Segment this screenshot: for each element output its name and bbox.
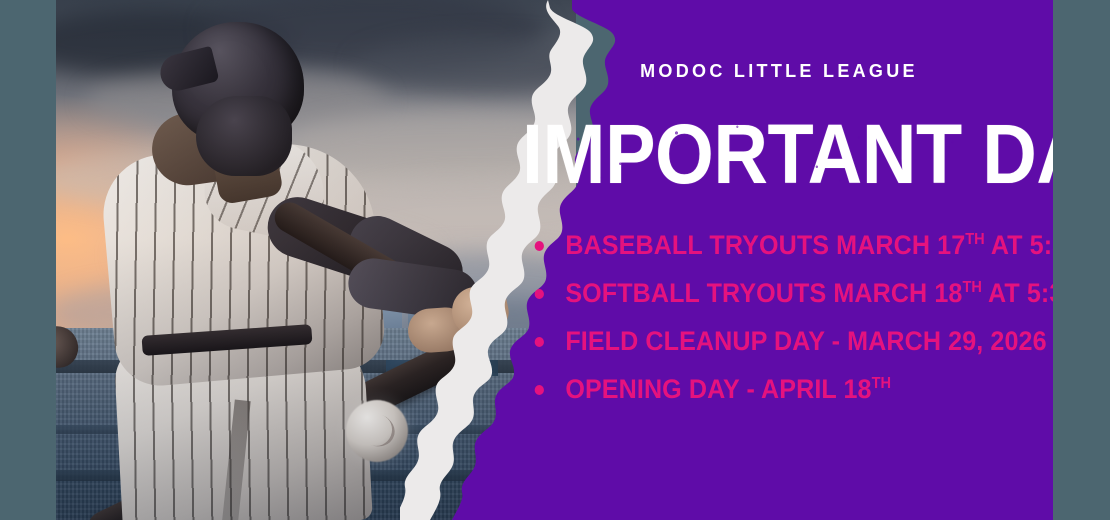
ordinal-suffix: TH	[962, 279, 981, 296]
important-dates-list: BASEBALL TRYOUTS MARCH 17TH AT 5:30 SOFT…	[530, 232, 1110, 424]
headline-text: IMPORTANT DATES	[522, 107, 1110, 201]
poster-canvas: MODOC LITTLE LEAGUE IMPORTANT DATES BASE…	[0, 0, 1110, 520]
bullet-dot-icon	[535, 241, 544, 251]
bullet-dot-icon	[535, 289, 544, 299]
helmet-earflap	[196, 96, 292, 176]
ordinal-suffix: TH	[965, 231, 984, 248]
event-text: FIELD CLEANUP DAY - MARCH 29, 2026 AT 9:…	[565, 326, 1110, 356]
list-item: FIELD CLEANUP DAY - MARCH 29, 2026 AT 9:…	[530, 328, 1069, 355]
page-title: IMPORTANT DATES	[522, 116, 990, 193]
bat-knob	[56, 319, 85, 374]
event-text: OPENING DAY - APRIL 18	[565, 374, 871, 404]
list-item: BASEBALL TRYOUTS MARCH 17TH AT 5:30	[530, 232, 1069, 259]
bullet-dot-icon	[535, 385, 544, 395]
ordinal-suffix: TH	[872, 375, 891, 392]
bullet-dot-icon	[535, 337, 544, 347]
organization-name: MODOC LITTLE LEAGUE	[500, 61, 1058, 82]
poster-text-content: MODOC LITTLE LEAGUE IMPORTANT DATES BASE…	[500, 0, 1110, 520]
event-text: SOFTBALL TRYOUTS MARCH 18	[565, 278, 962, 308]
list-item: SOFTBALL TRYOUTS MARCH 18TH AT 5:30	[530, 280, 1069, 307]
left-frame-bar	[0, 0, 56, 520]
event-text: BASEBALL TRYOUTS MARCH 17	[565, 230, 965, 260]
list-item: OPENING DAY - APRIL 18TH	[530, 376, 1069, 403]
right-frame-bar	[1053, 0, 1110, 520]
